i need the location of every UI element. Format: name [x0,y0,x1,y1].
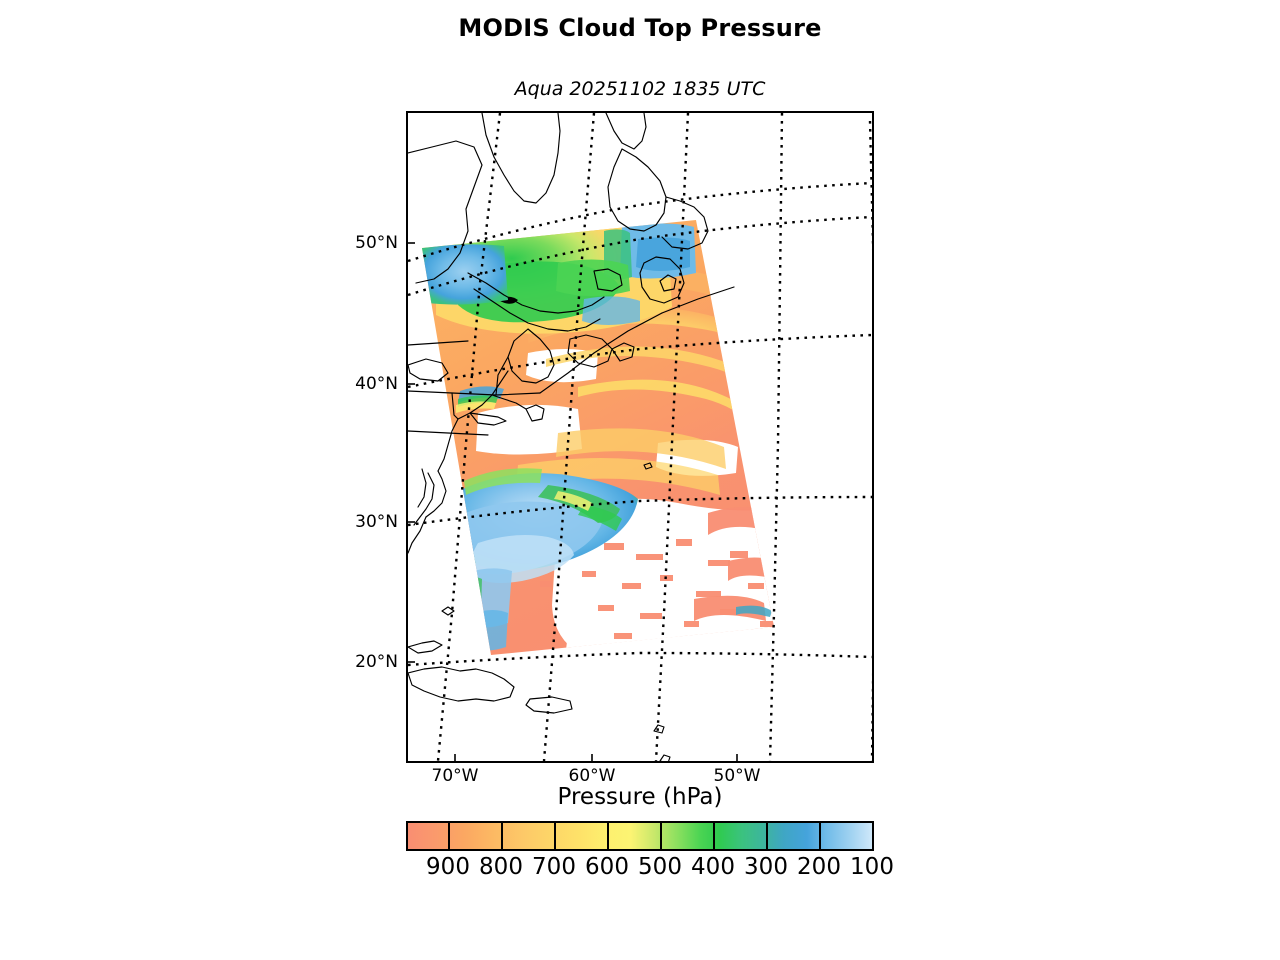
map-plot-area[interactable] [406,111,874,763]
colorbar-title: Pressure (hPa) [406,786,874,809]
ytick-label-50n: 50°N [306,235,398,252]
ytick-label-40n: 40°N [306,376,398,393]
figure-subtitle: Aqua 20251102 1835 UTC [0,78,1280,100]
colorbar-gradient [408,823,872,849]
colorbar[interactable] [406,821,874,851]
colorbar-tick-400 [713,823,715,849]
colorbar-tick-300 [766,823,768,849]
colorbar-tick-500 [660,823,662,849]
xtick-label-60w: 60°W [532,768,652,785]
colorbar-tick-200 [819,823,821,849]
xtick-label-70w: 70°W [395,768,515,785]
ytick-label-20n: 20°N [306,654,398,671]
colorbar-tick-800 [501,823,503,849]
colorbar-tick-900 [448,823,450,849]
ytick-label-30n: 30°N [306,514,398,531]
map-canvas [408,113,872,761]
page-title: MODIS Cloud Top Pressure [0,14,1280,42]
colorbar-ticklabel-100: 100 [817,856,927,879]
colorbar-tick-600 [607,823,609,849]
xtick-label-50w: 50°W [677,768,797,785]
colorbar-tick-700 [554,823,556,849]
